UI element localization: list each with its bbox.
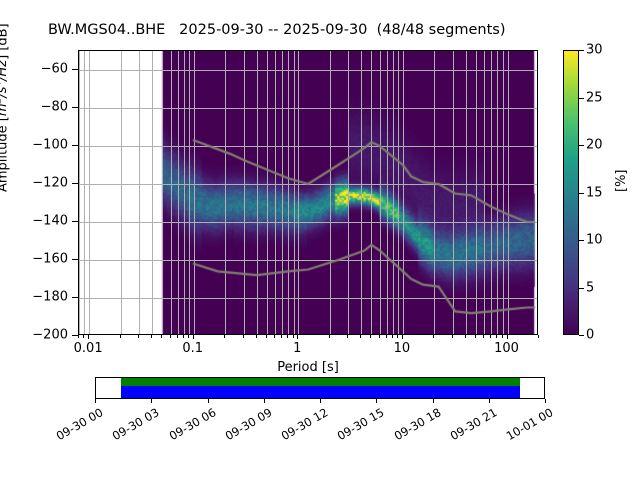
coverage-tick-label: 09-30 12: [279, 406, 329, 443]
x-axis-tick: [83, 335, 84, 338]
y-axis-tick: [72, 183, 78, 184]
x-axis-tick: [297, 335, 298, 339]
x-axis-tick: [475, 335, 476, 338]
coverage-tick: [376, 399, 377, 403]
y-axis-tick: [72, 69, 78, 70]
coverage-tick: [95, 399, 96, 403]
ppsd-figure: BW.MGS04..BHE 2025-09-30 -- 2025-09-30 (…: [0, 0, 640, 480]
x-axis-tick-label: 0.1: [182, 341, 203, 356]
x-axis-tick: [360, 335, 361, 338]
coverage-tick: [433, 399, 434, 403]
x-axis-tick: [193, 335, 194, 339]
coverage-tick: [264, 399, 265, 403]
page-title: BW.MGS04..BHE 2025-09-30 -- 2025-09-30 (…: [48, 22, 505, 38]
y-axis-tick: [72, 221, 78, 222]
y-axis-tick-label: −80: [8, 100, 68, 115]
x-axis-tick-label: 1: [293, 341, 301, 356]
x-axis-tick: [496, 335, 497, 338]
x-axis-tick: [78, 335, 79, 338]
x-axis-tick: [266, 335, 267, 338]
colorbar-title: [%]: [614, 170, 629, 193]
x-axis-tick: [188, 335, 189, 338]
colorbar-tick-label: 30: [586, 43, 603, 58]
x-axis-tick-label: 0.01: [74, 341, 103, 356]
x-axis-tick: [224, 335, 225, 338]
x-axis-tick: [347, 335, 348, 338]
colorbar-tick: [579, 50, 584, 51]
y-axis-tick: [72, 107, 78, 108]
colorbar-tick-label: 25: [586, 90, 603, 105]
coverage-tick: [151, 399, 152, 403]
colorbar-tick: [579, 288, 584, 289]
coverage-tick-label: 09-30 09: [222, 406, 272, 443]
x-axis-tick: [433, 335, 434, 338]
x-axis-tick: [502, 335, 503, 338]
colorbar-tick-label: 0: [586, 328, 594, 343]
x-axis-tick: [402, 335, 403, 339]
x-axis-tick: [490, 335, 491, 338]
colorbar-tick: [579, 335, 584, 336]
y-axis-title-text: Amplitude [m2/s4/Hz] [dB]: [0, 23, 10, 192]
colorbar-tick-label: 15: [586, 185, 603, 200]
x-axis-tick-label: 10: [394, 341, 411, 356]
x-axis-tick: [170, 335, 171, 338]
x-axis-tick: [370, 335, 371, 338]
colorbar-tick-label: 5: [586, 280, 594, 295]
y-axis-tick-label: −100: [8, 138, 68, 153]
colorbar-tick: [579, 193, 584, 194]
y-axis-tick-label: −60: [8, 62, 68, 77]
colorbar-tick-label: 10: [586, 233, 603, 248]
y-axis-tick-label: −180: [8, 290, 68, 305]
y-axis-tick: [72, 259, 78, 260]
x-axis-tick: [293, 335, 294, 338]
noise-model-curves-canvas: [79, 51, 538, 335]
coverage-tick: [489, 399, 490, 403]
coverage-tick: [208, 399, 209, 403]
coverage-tick-label: 10-01 00: [504, 406, 554, 443]
y-axis-tick-label: −200: [8, 328, 68, 343]
x-axis-tick: [183, 335, 184, 338]
x-axis-tick: [483, 335, 484, 338]
x-axis-tick: [465, 335, 466, 338]
coverage-tick-label: 09-30 03: [110, 406, 160, 443]
x-axis-tick: [452, 335, 453, 338]
colorbar-tick: [579, 145, 584, 146]
x-axis-tick: [256, 335, 257, 338]
x-axis-title: Period [s]: [277, 360, 339, 375]
x-axis-tick: [392, 335, 393, 338]
coverage-tick-label: 09-30 15: [335, 406, 385, 443]
ppsd-plot-area: [78, 50, 538, 335]
x-axis-tick: [120, 335, 121, 338]
y-axis-tick-label: −120: [8, 176, 68, 191]
coverage-tick-label: 09-30 18: [391, 406, 441, 443]
coverage-tick-label: 09-30 21: [447, 406, 497, 443]
y-axis-tick-label: −160: [8, 252, 68, 267]
x-axis-tick: [177, 335, 178, 338]
x-axis-tick: [329, 335, 330, 338]
colorbar-tick: [579, 98, 584, 99]
coverage-blue: [121, 386, 521, 398]
data-coverage-bar: [95, 377, 545, 399]
x-axis-tick: [287, 335, 288, 338]
x-axis-tick: [386, 335, 387, 338]
x-axis-tick: [274, 335, 275, 338]
x-axis-tick-label: 100: [494, 341, 519, 356]
x-axis-tick: [379, 335, 380, 338]
x-axis-tick: [507, 335, 508, 339]
x-axis-tick: [151, 335, 152, 338]
coverage-tick-label: 09-30 06: [166, 406, 216, 443]
coverage-tick: [545, 399, 546, 403]
y-axis-tick-label: −140: [8, 214, 68, 229]
x-axis-tick: [538, 335, 539, 338]
x-axis-tick: [138, 335, 139, 338]
y-axis-title: Amplitude [m2/s4/Hz] [dB]: [0, 23, 10, 192]
colorbar-tick-label: 20: [586, 138, 603, 153]
x-axis-tick: [88, 335, 89, 339]
colorbar-tick: [579, 240, 584, 241]
coverage-tick: [320, 399, 321, 403]
y-axis-tick: [72, 297, 78, 298]
coverage-green: [121, 378, 521, 386]
coverage-tick-label: 09-30 00: [54, 406, 104, 443]
y-axis-tick: [72, 145, 78, 146]
x-axis-tick: [397, 335, 398, 338]
colorbar: [563, 50, 579, 335]
x-axis-tick: [161, 335, 162, 338]
x-axis-tick: [243, 335, 244, 338]
x-axis-tick: [281, 335, 282, 338]
